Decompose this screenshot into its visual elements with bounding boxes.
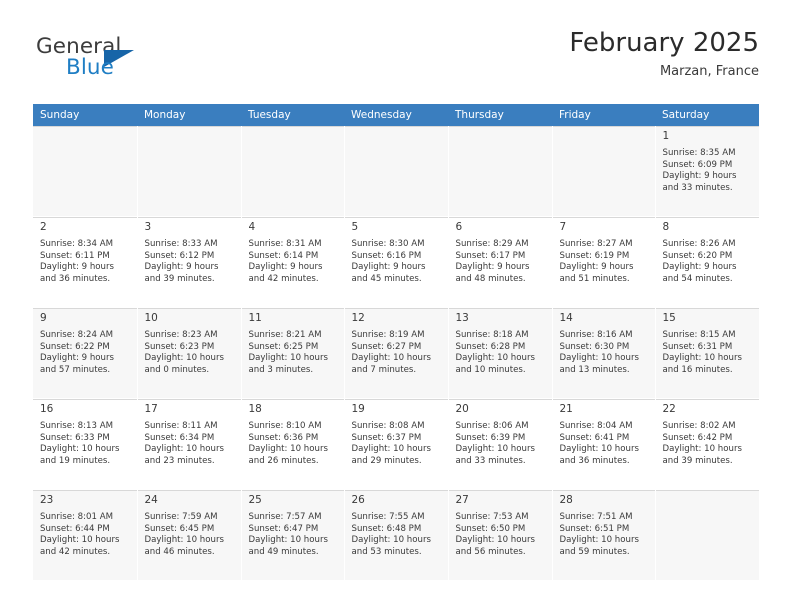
daylight-duration-line-2: and 7 minutes. [352,365,444,377]
page-title: February 2025 [569,28,759,58]
sunset-time: Sunset: 6:22 PM [40,342,133,354]
day-number: 16 [33,400,137,418]
sunset-time: Sunset: 6:30 PM [560,342,651,354]
day-details: Sunrise: 8:30 AMSunset: 6:16 PMDaylight:… [345,236,448,285]
title-block: February 2025 Marzan, France [569,28,759,80]
sunset-time: Sunset: 6:39 PM [456,433,548,445]
sunset-time: Sunset: 6:47 PM [249,524,340,536]
daylight-duration-line-1: Daylight: 9 hours [560,262,651,274]
calendar-day-cell[interactable]: 10Sunrise: 8:23 AMSunset: 6:23 PMDayligh… [137,308,241,399]
calendar-cell-empty [137,126,241,217]
sunset-time: Sunset: 6:50 PM [456,524,548,536]
daylight-duration-line-2: and 45 minutes. [352,274,444,286]
calendar-week-row: 9Sunrise: 8:24 AMSunset: 6:22 PMDaylight… [33,308,759,399]
day-details: Sunrise: 7:55 AMSunset: 6:48 PMDaylight:… [345,509,448,558]
sunrise-time: Sunrise: 8:01 AM [40,512,133,524]
daylight-duration-line-2: and 16 minutes. [663,365,755,377]
day-details: Sunrise: 8:15 AMSunset: 6:31 PMDaylight:… [656,327,759,376]
calendar-day-cell[interactable]: 20Sunrise: 8:06 AMSunset: 6:39 PMDayligh… [448,399,552,490]
day-number: 2 [33,218,137,236]
daylight-duration-line-2: and 3 minutes. [249,365,340,377]
daylight-duration-line-1: Daylight: 10 hours [352,444,444,456]
day-number: 11 [242,309,344,327]
calendar-day-cell[interactable]: 13Sunrise: 8:18 AMSunset: 6:28 PMDayligh… [448,308,552,399]
sunset-time: Sunset: 6:12 PM [145,251,237,263]
calendar-day-cell[interactable]: 26Sunrise: 7:55 AMSunset: 6:48 PMDayligh… [344,490,448,581]
sunrise-time: Sunrise: 8:02 AM [663,421,755,433]
day-details: Sunrise: 8:34 AMSunset: 6:11 PMDaylight:… [33,236,137,285]
daylight-duration-line-1: Daylight: 10 hours [145,535,237,547]
daylight-duration-line-1: Daylight: 10 hours [40,535,133,547]
day-number: 25 [242,491,344,509]
daylight-duration-line-1: Daylight: 10 hours [456,444,548,456]
calendar-day-cell[interactable]: 14Sunrise: 8:16 AMSunset: 6:30 PMDayligh… [552,308,655,399]
daylight-duration-line-2: and 46 minutes. [145,547,237,559]
daylight-duration-line-2: and 57 minutes. [40,365,133,377]
sunset-time: Sunset: 6:31 PM [663,342,755,354]
logo-text-blue: Blue [66,55,114,80]
weekday-header-friday: Friday [552,104,655,126]
sunrise-time: Sunrise: 8:21 AM [249,330,340,342]
calendar-day-cell[interactable]: 27Sunrise: 7:53 AMSunset: 6:50 PMDayligh… [448,490,552,581]
daylight-duration-line-2: and 39 minutes. [663,456,755,468]
day-number: 24 [138,491,241,509]
sunrise-time: Sunrise: 8:13 AM [40,421,133,433]
calendar-day-cell[interactable]: 16Sunrise: 8:13 AMSunset: 6:33 PMDayligh… [33,399,137,490]
weekday-header-tuesday: Tuesday [241,104,344,126]
sunset-time: Sunset: 6:36 PM [249,433,340,445]
day-details: Sunrise: 8:33 AMSunset: 6:12 PMDaylight:… [138,236,241,285]
sunrise-time: Sunrise: 8:35 AM [663,148,755,160]
day-details: Sunrise: 8:11 AMSunset: 6:34 PMDaylight:… [138,418,241,467]
day-number: 9 [33,309,137,327]
day-details: Sunrise: 8:27 AMSunset: 6:19 PMDaylight:… [553,236,655,285]
sunrise-time: Sunrise: 7:51 AM [560,512,651,524]
sunset-time: Sunset: 6:51 PM [560,524,651,536]
calendar-day-cell[interactable]: 8Sunrise: 8:26 AMSunset: 6:20 PMDaylight… [655,217,759,308]
day-number: 19 [345,400,448,418]
calendar-body: 1Sunrise: 8:35 AMSunset: 6:09 PMDaylight… [33,126,759,581]
daylight-duration-line-2: and 36 minutes. [40,274,133,286]
calendar-cell-empty [241,126,344,217]
sunset-time: Sunset: 6:41 PM [560,433,651,445]
sunset-time: Sunset: 6:42 PM [663,433,755,445]
day-number: 8 [656,218,759,236]
sunset-time: Sunset: 6:34 PM [145,433,237,445]
daylight-duration-line-2: and 54 minutes. [663,274,755,286]
day-details: Sunrise: 8:10 AMSunset: 6:36 PMDaylight:… [242,418,344,467]
day-details: Sunrise: 8:21 AMSunset: 6:25 PMDaylight:… [242,327,344,376]
day-number: 4 [242,218,344,236]
day-number: 26 [345,491,448,509]
daylight-duration-line-2: and 53 minutes. [352,547,444,559]
daylight-duration-line-2: and 39 minutes. [145,274,237,286]
daylight-duration-line-1: Daylight: 10 hours [663,444,755,456]
calendar-day-cell[interactable]: 21Sunrise: 8:04 AMSunset: 6:41 PMDayligh… [552,399,655,490]
day-number: 14 [553,309,655,327]
day-details: Sunrise: 8:31 AMSunset: 6:14 PMDaylight:… [242,236,344,285]
sunrise-time: Sunrise: 8:23 AM [145,330,237,342]
day-details: Sunrise: 8:23 AMSunset: 6:23 PMDaylight:… [138,327,241,376]
daylight-duration-line-1: Daylight: 10 hours [145,444,237,456]
calendar-day-cell[interactable]: 22Sunrise: 8:02 AMSunset: 6:42 PMDayligh… [655,399,759,490]
sunset-time: Sunset: 6:44 PM [40,524,133,536]
sunrise-time: Sunrise: 8:27 AM [560,239,651,251]
daylight-duration-line-2: and 0 minutes. [145,365,237,377]
calendar-week-row: 1Sunrise: 8:35 AMSunset: 6:09 PMDaylight… [33,126,759,217]
daylight-duration-line-2: and 59 minutes. [560,547,651,559]
calendar-day-cell[interactable]: 11Sunrise: 8:21 AMSunset: 6:25 PMDayligh… [241,308,344,399]
sunrise-time: Sunrise: 8:11 AM [145,421,237,433]
weekday-header-wednesday: Wednesday [344,104,448,126]
page-subtitle: Marzan, France [569,64,759,80]
sunrise-time: Sunrise: 8:15 AM [663,330,755,342]
day-number: 7 [553,218,655,236]
calendar-day-cell[interactable]: 9Sunrise: 8:24 AMSunset: 6:22 PMDaylight… [33,308,137,399]
daylight-duration-line-1: Daylight: 10 hours [40,444,133,456]
day-number: 15 [656,309,759,327]
daylight-duration-line-1: Daylight: 10 hours [663,353,755,365]
calendar-day-cell[interactable]: 5Sunrise: 8:30 AMSunset: 6:16 PMDaylight… [344,217,448,308]
sunset-time: Sunset: 6:14 PM [249,251,340,263]
day-number: 17 [138,400,241,418]
day-number: 13 [449,309,552,327]
calendar-week-row: 23Sunrise: 8:01 AMSunset: 6:44 PMDayligh… [33,490,759,581]
sunrise-time: Sunrise: 8:26 AM [663,239,755,251]
weekday-header-saturday: Saturday [655,104,759,126]
daylight-duration-line-2: and 19 minutes. [40,456,133,468]
calendar-day-cell[interactable]: 25Sunrise: 7:57 AMSunset: 6:47 PMDayligh… [241,490,344,581]
calendar-day-cell[interactable]: 24Sunrise: 7:59 AMSunset: 6:45 PMDayligh… [137,490,241,581]
day-details: Sunrise: 8:26 AMSunset: 6:20 PMDaylight:… [656,236,759,285]
daylight-duration-line-1: Daylight: 10 hours [249,444,340,456]
calendar-day-cell[interactable]: 15Sunrise: 8:15 AMSunset: 6:31 PMDayligh… [655,308,759,399]
calendar-day-cell[interactable]: 3Sunrise: 8:33 AMSunset: 6:12 PMDaylight… [137,217,241,308]
calendar-cell-empty [655,490,759,581]
daylight-duration-line-2: and 36 minutes. [560,456,651,468]
sunset-time: Sunset: 6:16 PM [352,251,444,263]
general-blue-logo[interactable]: General Blue [33,34,263,90]
day-details: Sunrise: 8:08 AMSunset: 6:37 PMDaylight:… [345,418,448,467]
calendar-week-row: 2Sunrise: 8:34 AMSunset: 6:11 PMDaylight… [33,217,759,308]
day-details: Sunrise: 7:57 AMSunset: 6:47 PMDaylight:… [242,509,344,558]
daylight-duration-line-1: Daylight: 9 hours [249,262,340,274]
calendar-day-cell[interactable]: 28Sunrise: 7:51 AMSunset: 6:51 PMDayligh… [552,490,655,581]
calendar-table: Sunday Monday Tuesday Wednesday Thursday… [33,104,760,581]
sunrise-time: Sunrise: 8:10 AM [249,421,340,433]
daylight-duration-line-2: and 26 minutes. [249,456,340,468]
sunrise-time: Sunrise: 7:57 AM [249,512,340,524]
sunset-time: Sunset: 6:25 PM [249,342,340,354]
sunrise-time: Sunrise: 7:59 AM [145,512,237,524]
daylight-duration-line-1: Daylight: 9 hours [456,262,548,274]
day-details: Sunrise: 8:24 AMSunset: 6:22 PMDaylight:… [33,327,137,376]
day-number: 23 [33,491,137,509]
day-details: Sunrise: 8:01 AMSunset: 6:44 PMDaylight:… [33,509,137,558]
daylight-duration-line-1: Daylight: 10 hours [352,535,444,547]
calendar-cell-empty [33,126,137,217]
day-number: 10 [138,309,241,327]
daylight-duration-line-1: Daylight: 10 hours [456,353,548,365]
day-details: Sunrise: 8:19 AMSunset: 6:27 PMDaylight:… [345,327,448,376]
calendar-day-cell[interactable]: 18Sunrise: 8:10 AMSunset: 6:36 PMDayligh… [241,399,344,490]
sunset-time: Sunset: 6:27 PM [352,342,444,354]
sunset-time: Sunset: 6:37 PM [352,433,444,445]
day-number: 22 [656,400,759,418]
day-details: Sunrise: 8:16 AMSunset: 6:30 PMDaylight:… [553,327,655,376]
daylight-duration-line-2: and 42 minutes. [40,547,133,559]
day-number: 5 [345,218,448,236]
calendar-cell-empty [552,126,655,217]
daylight-duration-line-1: Daylight: 9 hours [145,262,237,274]
daylight-duration-line-2: and 42 minutes. [249,274,340,286]
daylight-duration-line-1: Daylight: 10 hours [352,353,444,365]
sunrise-time: Sunrise: 8:34 AM [40,239,133,251]
calendar-day-cell[interactable]: 1Sunrise: 8:35 AMSunset: 6:09 PMDaylight… [655,126,759,217]
sunrise-time: Sunrise: 8:30 AM [352,239,444,251]
sunrise-time: Sunrise: 7:55 AM [352,512,444,524]
calendar-cell-empty [344,126,448,217]
sunrise-time: Sunrise: 8:18 AM [456,330,548,342]
calendar-day-cell[interactable]: 2Sunrise: 8:34 AMSunset: 6:11 PMDaylight… [33,217,137,308]
sunset-time: Sunset: 6:33 PM [40,433,133,445]
day-details: Sunrise: 8:29 AMSunset: 6:17 PMDaylight:… [449,236,552,285]
weekday-header-sunday: Sunday [33,104,137,126]
calendar-header-row: Sunday Monday Tuesday Wednesday Thursday… [33,104,759,126]
sunrise-time: Sunrise: 8:33 AM [145,239,237,251]
day-number: 12 [345,309,448,327]
sunrise-time: Sunrise: 8:24 AM [40,330,133,342]
day-details: Sunrise: 7:51 AMSunset: 6:51 PMDaylight:… [553,509,655,558]
calendar-day-cell[interactable]: 23Sunrise: 8:01 AMSunset: 6:44 PMDayligh… [33,490,137,581]
sunset-time: Sunset: 6:19 PM [560,251,651,263]
calendar-day-cell[interactable]: 7Sunrise: 8:27 AMSunset: 6:19 PMDaylight… [552,217,655,308]
daylight-duration-line-2: and 33 minutes. [663,183,755,195]
sunset-time: Sunset: 6:20 PM [663,251,755,263]
sunset-time: Sunset: 6:09 PM [663,160,755,172]
daylight-duration-line-1: Daylight: 9 hours [40,353,133,365]
day-details: Sunrise: 8:35 AMSunset: 6:09 PMDaylight:… [656,145,759,194]
day-number: 1 [656,127,759,145]
calendar-day-cell[interactable]: 4Sunrise: 8:31 AMSunset: 6:14 PMDaylight… [241,217,344,308]
sunrise-time: Sunrise: 8:08 AM [352,421,444,433]
sunrise-time: Sunrise: 8:06 AM [456,421,548,433]
daylight-duration-line-1: Daylight: 10 hours [249,353,340,365]
day-details: Sunrise: 7:59 AMSunset: 6:45 PMDaylight:… [138,509,241,558]
day-number: 21 [553,400,655,418]
sunrise-time: Sunrise: 8:16 AM [560,330,651,342]
sunrise-time: Sunrise: 7:53 AM [456,512,548,524]
daylight-duration-line-2: and 51 minutes. [560,274,651,286]
page-header: General Blue February 2025 Marzan, Franc… [33,28,759,90]
daylight-duration-line-1: Daylight: 9 hours [663,262,755,274]
daylight-duration-line-1: Daylight: 9 hours [663,171,755,183]
day-number: 20 [449,400,552,418]
daylight-duration-line-2: and 56 minutes. [456,547,548,559]
daylight-duration-line-2: and 33 minutes. [456,456,548,468]
daylight-duration-line-2: and 23 minutes. [145,456,237,468]
day-number: 28 [553,491,655,509]
daylight-duration-line-1: Daylight: 10 hours [560,353,651,365]
daylight-duration-line-1: Daylight: 10 hours [249,535,340,547]
calendar-day-cell[interactable]: 17Sunrise: 8:11 AMSunset: 6:34 PMDayligh… [137,399,241,490]
calendar-day-cell[interactable]: 6Sunrise: 8:29 AMSunset: 6:17 PMDaylight… [448,217,552,308]
day-details: Sunrise: 8:18 AMSunset: 6:28 PMDaylight:… [449,327,552,376]
sunrise-time: Sunrise: 8:29 AM [456,239,548,251]
calendar-day-cell[interactable]: 12Sunrise: 8:19 AMSunset: 6:27 PMDayligh… [344,308,448,399]
sunset-time: Sunset: 6:11 PM [40,251,133,263]
daylight-duration-line-2: and 49 minutes. [249,547,340,559]
day-number: 6 [449,218,552,236]
day-details: Sunrise: 8:04 AMSunset: 6:41 PMDaylight:… [553,418,655,467]
day-number: 3 [138,218,241,236]
daylight-duration-line-2: and 10 minutes. [456,365,548,377]
day-details: Sunrise: 8:02 AMSunset: 6:42 PMDaylight:… [656,418,759,467]
weekday-header-thursday: Thursday [448,104,552,126]
day-number: 27 [449,491,552,509]
sunset-time: Sunset: 6:17 PM [456,251,548,263]
sunset-time: Sunset: 6:45 PM [145,524,237,536]
daylight-duration-line-2: and 48 minutes. [456,274,548,286]
daylight-duration-line-1: Daylight: 10 hours [145,353,237,365]
calendar-page: General Blue February 2025 Marzan, Franc… [0,0,792,612]
daylight-duration-line-1: Daylight: 9 hours [40,262,133,274]
daylight-duration-line-1: Daylight: 10 hours [560,535,651,547]
calendar-cell-empty [448,126,552,217]
day-details: Sunrise: 7:53 AMSunset: 6:50 PMDaylight:… [449,509,552,558]
daylight-duration-line-2: and 13 minutes. [560,365,651,377]
daylight-duration-line-2: and 29 minutes. [352,456,444,468]
sunrise-time: Sunrise: 8:19 AM [352,330,444,342]
daylight-duration-line-1: Daylight: 10 hours [456,535,548,547]
sunrise-time: Sunrise: 8:31 AM [249,239,340,251]
day-number: 18 [242,400,344,418]
sunset-time: Sunset: 6:28 PM [456,342,548,354]
day-details: Sunrise: 8:06 AMSunset: 6:39 PMDaylight:… [449,418,552,467]
daylight-duration-line-1: Daylight: 9 hours [352,262,444,274]
sunrise-time: Sunrise: 8:04 AM [560,421,651,433]
calendar-week-row: 16Sunrise: 8:13 AMSunset: 6:33 PMDayligh… [33,399,759,490]
weekday-header-monday: Monday [137,104,241,126]
sunset-time: Sunset: 6:48 PM [352,524,444,536]
day-details: Sunrise: 8:13 AMSunset: 6:33 PMDaylight:… [33,418,137,467]
calendar-day-cell[interactable]: 19Sunrise: 8:08 AMSunset: 6:37 PMDayligh… [344,399,448,490]
sunset-time: Sunset: 6:23 PM [145,342,237,354]
daylight-duration-line-1: Daylight: 10 hours [560,444,651,456]
